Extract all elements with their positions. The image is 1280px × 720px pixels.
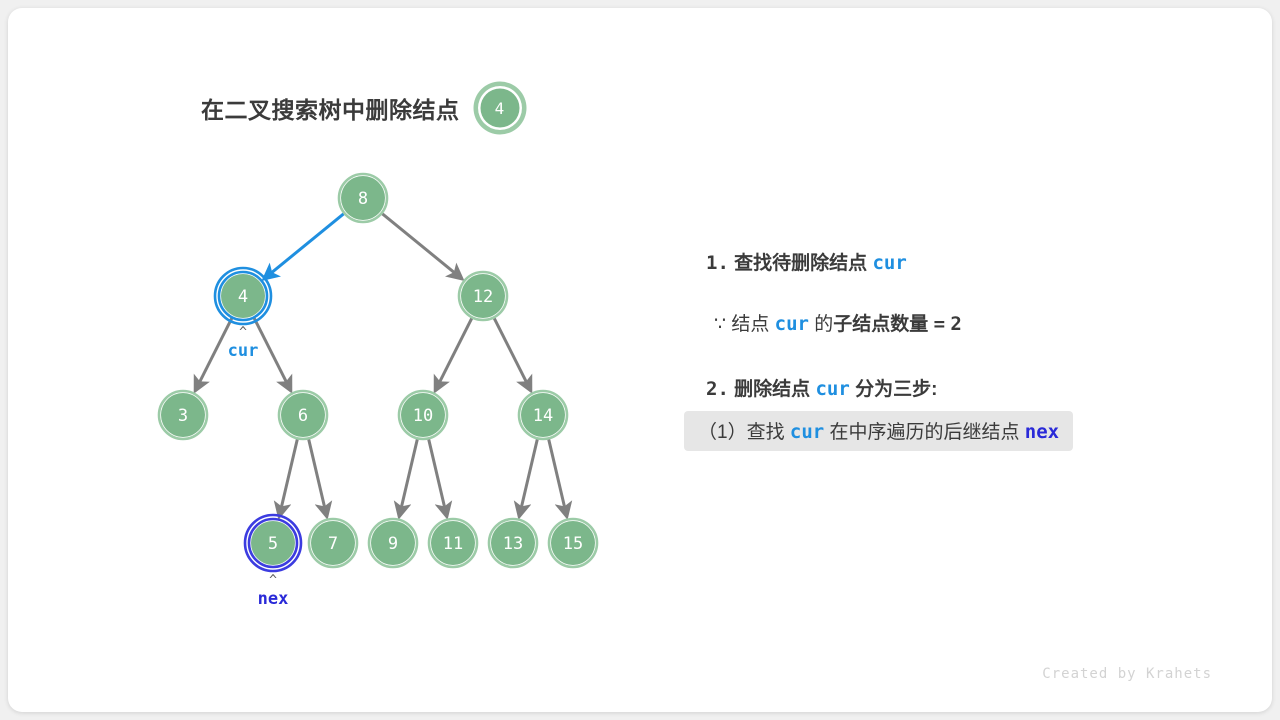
reason-equals: = bbox=[934, 313, 945, 335]
tree-node-15[interactable]: 15 bbox=[549, 519, 597, 567]
tree-edge bbox=[548, 438, 566, 515]
tree-edge bbox=[428, 438, 446, 515]
node-value: 9 bbox=[388, 534, 398, 554]
tree-node-5[interactable]: 5 bbox=[245, 515, 301, 571]
pointer-caret-icon: ^ bbox=[239, 325, 247, 340]
tree-nodes: 8412361014579111315 bbox=[159, 174, 597, 571]
reason-line: ∵ 结点 cur 的子结点数量 = 2 bbox=[714, 309, 1244, 336]
tree-edge bbox=[265, 213, 345, 278]
tree-node-7[interactable]: 7 bbox=[309, 519, 357, 567]
tree-edges bbox=[196, 213, 567, 516]
because-symbol: ∵ bbox=[714, 314, 726, 335]
substep-1-highlight: （1）查找 cur 在中序遍历的后继结点 nex bbox=[684, 411, 1073, 451]
node-value: 10 bbox=[413, 406, 433, 426]
node-value: 3 bbox=[178, 406, 188, 426]
node-value: 8 bbox=[358, 189, 368, 209]
reason-var-cur: cur bbox=[775, 313, 809, 335]
node-value: 13 bbox=[503, 534, 523, 554]
substep-1-line: （1）查找 cur 在中序遍历的后继结点 nex bbox=[684, 411, 1244, 451]
tree-node-14[interactable]: 14 bbox=[519, 391, 567, 439]
tree-node-11[interactable]: 11 bbox=[429, 519, 477, 567]
node-value: 7 bbox=[328, 534, 338, 554]
reason-part-1: 结点 bbox=[731, 314, 769, 335]
node-value: 12 bbox=[473, 287, 493, 307]
tree-node-8[interactable]: 8 bbox=[339, 174, 387, 222]
tree-edge bbox=[382, 213, 462, 278]
tree-node-4[interactable]: 4 bbox=[215, 268, 271, 324]
step-2-suffix: 分为三步: bbox=[855, 379, 937, 400]
substep-1-index: （1） bbox=[698, 422, 747, 443]
binary-search-tree-diagram: 8412361014579111315 ^cur^nex bbox=[8, 8, 668, 668]
explanation-panel: 1. 查找待删除结点 cur ∵ 结点 cur 的子结点数量 = 2 2. 删除… bbox=[684, 248, 1244, 451]
diagram-card: 在二叉搜索树中删除结点 4 8412361014579111315 ^cur^n… bbox=[8, 8, 1272, 712]
node-value: 11 bbox=[443, 534, 463, 554]
step-1-var-cur: cur bbox=[872, 252, 906, 274]
pointer-label-cur: cur bbox=[228, 341, 259, 361]
node-value: 14 bbox=[533, 406, 553, 426]
step-2-line: 2. 删除结点 cur 分为三步: bbox=[706, 374, 1244, 401]
tree-edge bbox=[254, 317, 291, 390]
step-1-prefix: 1. bbox=[706, 252, 729, 274]
reason-part-2-bold: 子结点数量 bbox=[833, 314, 928, 335]
substep-1-text-1: 查找 bbox=[747, 422, 785, 443]
tree-edge bbox=[519, 438, 537, 515]
node-value: 6 bbox=[298, 406, 308, 426]
step-1-line: 1. 查找待删除结点 cur bbox=[706, 248, 1244, 275]
tree-node-13[interactable]: 13 bbox=[489, 519, 537, 567]
pointer-caret-icon: ^ bbox=[269, 573, 277, 588]
node-value: 15 bbox=[563, 534, 583, 554]
step-2-text: 删除结点 bbox=[734, 379, 810, 400]
node-value: 5 bbox=[268, 534, 278, 554]
tree-edge bbox=[436, 317, 473, 390]
tree-node-6[interactable]: 6 bbox=[279, 391, 327, 439]
node-value: 4 bbox=[238, 287, 248, 307]
tree-node-12[interactable]: 12 bbox=[459, 272, 507, 320]
reason-part-2: 的 bbox=[814, 314, 833, 335]
reason-value: 2 bbox=[950, 313, 961, 335]
step-2-var-cur: cur bbox=[815, 378, 849, 400]
step-2-prefix: 2. bbox=[706, 378, 729, 400]
tree-edge bbox=[399, 438, 417, 515]
tree-node-3[interactable]: 3 bbox=[159, 391, 207, 439]
step-1-text: 查找待删除结点 bbox=[734, 253, 867, 274]
tree-edge bbox=[279, 438, 297, 515]
tree-node-9[interactable]: 9 bbox=[369, 519, 417, 567]
tree-node-10[interactable]: 10 bbox=[399, 391, 447, 439]
tree-edge bbox=[308, 438, 326, 515]
substep-1-text-2: 在中序遍历的后继结点 bbox=[829, 422, 1019, 443]
tree-edge bbox=[494, 317, 531, 390]
watermark: Created by Krahets bbox=[1042, 666, 1212, 682]
pointer-label-nex: nex bbox=[258, 589, 289, 609]
substep-1-var-cur: cur bbox=[790, 421, 824, 443]
substep-1-var-nex: nex bbox=[1025, 421, 1059, 443]
